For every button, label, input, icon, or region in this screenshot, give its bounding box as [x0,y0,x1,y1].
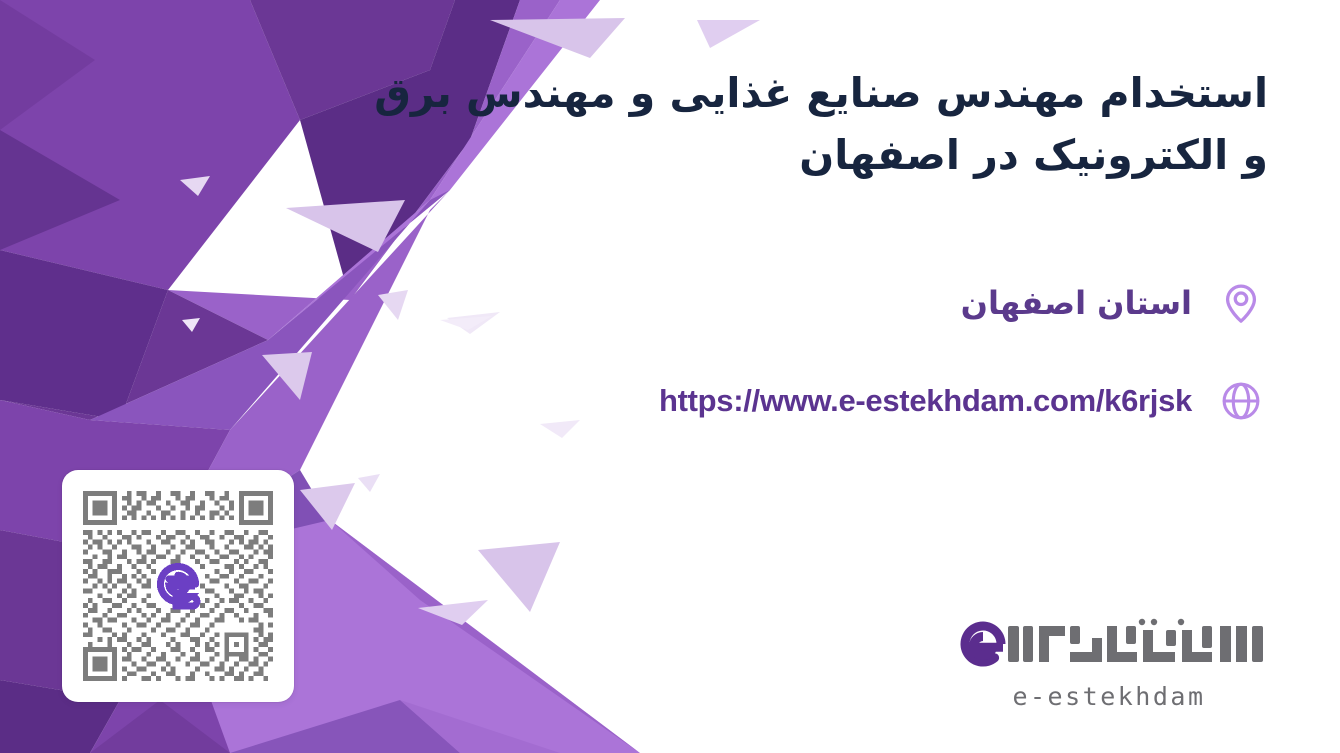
wordmark-letters [1008,619,1263,662]
qr-code[interactable] [62,470,294,702]
e-logo-icon [160,567,197,606]
url-row[interactable]: https://www.e-estekhdam.com/k6rjsk [659,374,1268,428]
url-label[interactable]: https://www.e-estekhdam.com/k6rjsk [659,383,1192,419]
job-card: استخدام مهندس صنایع غذایی و مهندس برق و … [0,0,1340,753]
page-title: استخدام مهندس صنایع غذایی و مهندس برق و … [368,62,1268,187]
brand-wordmark-fa [944,612,1274,676]
brand-logo: e-estekhdam [944,612,1274,720]
location-label: استان اصفهان [961,284,1192,322]
location-row: استان اصفهان [961,276,1268,330]
e-logo-icon [965,626,1003,662]
globe-icon [1214,374,1268,428]
map-pin-icon [1214,276,1268,330]
qr-code-matrix [78,486,278,686]
brand-wordmark-en: e-estekhdam [944,682,1274,711]
